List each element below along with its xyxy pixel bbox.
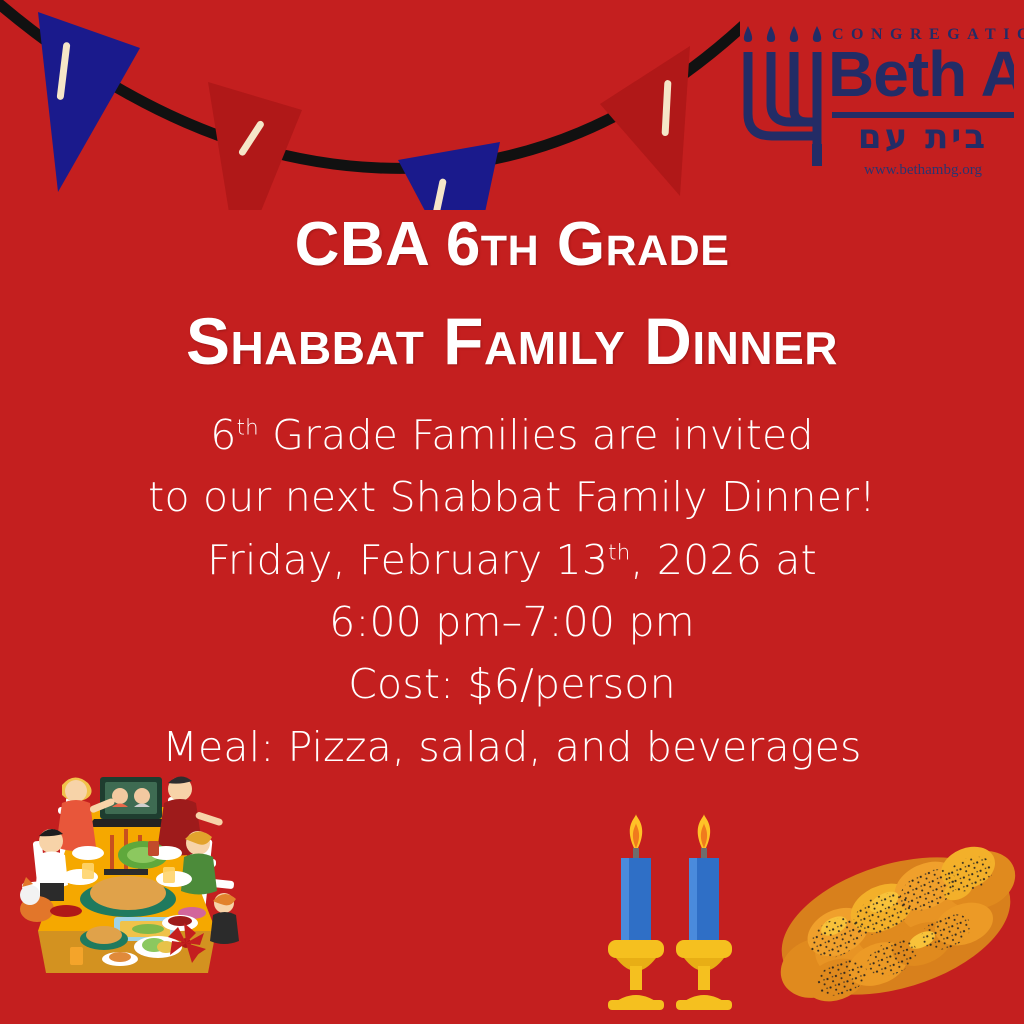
date-ordinal-suffix: th	[608, 540, 630, 565]
pennant-1	[38, 12, 140, 192]
detail-line-invitation: 6th Grade Families are invited	[0, 404, 1024, 466]
headline-secondary: Shabbat Family Dinner	[0, 308, 1024, 374]
detail-line-event: to our next Shabbat Family Dinner!	[0, 466, 1024, 528]
pennant-4	[600, 46, 690, 196]
event-details-block: 6th Grade Families are invited to our ne…	[0, 404, 1024, 778]
date-text: Friday, February 13	[207, 536, 608, 584]
shabbat-candles-icon	[596, 814, 746, 1014]
detail-line-time: 6:00 pm–7:00 pm	[0, 591, 1024, 653]
challah-bread-icon	[772, 828, 1020, 1016]
svg-text:Beth Am: Beth Am	[828, 38, 1014, 110]
bunting-banner	[0, 0, 740, 210]
invitation-text: Grade Families are invited	[259, 411, 814, 459]
candle-left	[608, 814, 664, 1010]
date-year-text: , 2026 at	[630, 536, 816, 584]
person-small-girl	[210, 893, 239, 944]
logo-website-url: www.bethambg.org	[832, 162, 1014, 179]
logo-hebrew-name: בית עם	[832, 120, 1014, 156]
challah-loaf	[772, 832, 1020, 1016]
detail-line-cost: Cost: $6/person	[0, 653, 1024, 715]
flyer-canvas: CONGREGATION Beth Am בית עם www.bethambg…	[0, 0, 1024, 1024]
grade-number: 6	[210, 411, 236, 459]
headline-block: CBA 6th Grade Shabbat Family Dinner	[0, 214, 1024, 374]
detail-line-date: Friday, February 13th, 2026 at	[0, 529, 1024, 591]
beth-am-logo: CONGREGATION Beth Am בית עם www.bethambg…	[736, 10, 1016, 200]
pennant-3	[398, 142, 500, 210]
logo-wordmark: Beth Am	[828, 34, 1014, 112]
bunting-rope	[0, 0, 740, 168]
grade-ordinal-suffix: th	[237, 415, 259, 440]
family-dinner-illustration	[8, 763, 258, 1008]
person-girl	[181, 831, 217, 895]
roast-turkey	[90, 876, 166, 910]
menorah-flames	[744, 26, 821, 42]
pennant-2	[208, 82, 302, 210]
headline-primary: CBA 6th Grade	[0, 214, 1024, 276]
menorah-icon	[738, 18, 830, 168]
candle-right	[676, 814, 732, 1010]
